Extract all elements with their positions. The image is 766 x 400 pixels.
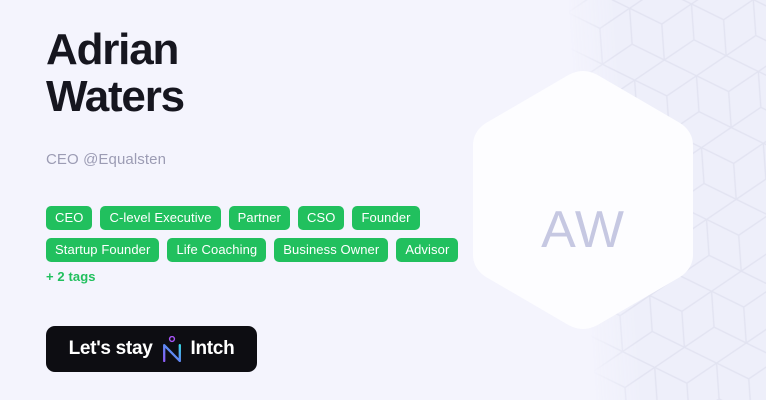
cta-brand: Intch [191, 338, 235, 360]
tag-chip[interactable]: CSO [298, 206, 344, 230]
profile-name-line-1: Adrian [46, 26, 346, 73]
tag-chip[interactable]: CEO [46, 206, 92, 230]
profile-card: AW Adrian Waters CEO @Equalsten CEOC-lev… [0, 0, 766, 400]
intch-logo-icon [161, 336, 183, 362]
content-column: Adrian Waters CEO @Equalsten CEOC-level … [46, 0, 476, 400]
cta-label: Let's stay [69, 338, 153, 360]
profile-name-line-2: Waters [46, 73, 346, 120]
avatar: AW [466, 68, 700, 332]
tag-chip[interactable]: Startup Founder [46, 238, 159, 262]
tag-chip[interactable]: C-level Executive [100, 206, 220, 230]
tag-list: CEOC-level ExecutivePartnerCSOFounderSta… [46, 206, 466, 283]
page-title: Adrian Waters [46, 26, 346, 120]
tag-chip[interactable]: Business Owner [274, 238, 388, 262]
tag-chip[interactable]: Advisor [396, 238, 458, 262]
tag-chip[interactable]: Founder [352, 206, 419, 230]
lets-stay-intch-button[interactable]: Let's stay Intch [46, 326, 257, 372]
profile-subtitle: CEO @Equalsten [46, 150, 166, 170]
tag-chip[interactable]: Partner [229, 206, 290, 230]
tag-more-count[interactable]: + 2 tags [46, 270, 96, 283]
avatar-initials: AW [466, 68, 700, 332]
tag-chip[interactable]: Life Coaching [167, 238, 266, 262]
